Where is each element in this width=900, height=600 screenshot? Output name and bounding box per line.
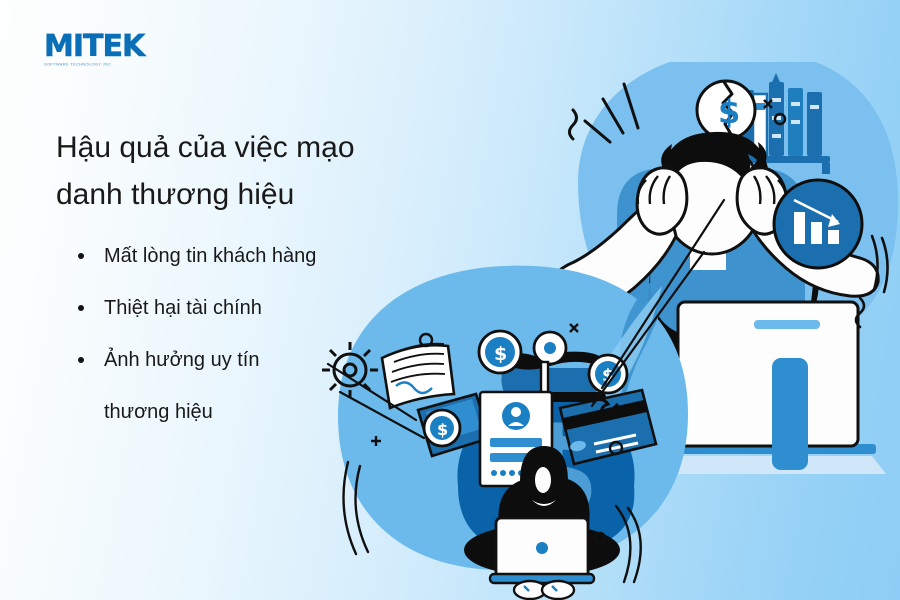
declining-bar-chart-badge <box>774 180 862 268</box>
illustration: $ <box>320 62 900 600</box>
monitor-stand-neck <box>772 358 808 470</box>
mitek-logo: MITEK SOFTWARE TECHNOLOGY JSC <box>44 33 154 73</box>
dollar-coin-left: $ <box>424 410 460 446</box>
slide-canvas: MITEK SOFTWARE TECHNOLOGY JSC Hậu quả củ… <box>0 0 900 600</box>
dollar-coin-top: $ <box>479 331 521 373</box>
chart-bar-3 <box>828 230 839 244</box>
svg-text:$: $ <box>718 93 740 131</box>
chart-bar-1 <box>794 212 805 244</box>
dollar-coin-right: $ <box>589 355 627 393</box>
monitor-accent-stripe <box>754 320 820 329</box>
svg-text:$: $ <box>437 420 448 439</box>
logo-tagline: SOFTWARE TECHNOLOGY JSC <box>44 62 154 67</box>
broken-dollar-coin: $ <box>697 81 755 139</box>
id-card-avatar-head <box>511 407 521 417</box>
logo-wordmark: MITEK <box>44 33 154 61</box>
hacker-face-shadow <box>535 467 551 493</box>
person-left-hand <box>637 168 687 234</box>
id-card-line-1 <box>490 438 542 447</box>
chart-bar-2 <box>811 222 822 244</box>
svg-text:$: $ <box>494 343 507 365</box>
laptop-logo <box>536 542 548 554</box>
laptop-base <box>490 574 594 583</box>
